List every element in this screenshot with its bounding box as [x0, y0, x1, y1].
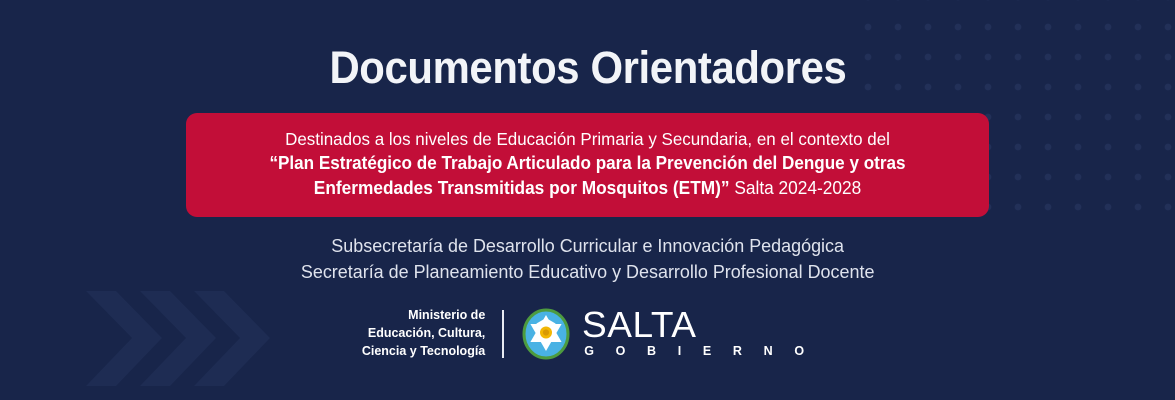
highlight-banner-line-1: Destinados a los niveles de Educación Pr…	[219, 127, 955, 151]
ministry-name: Ministerio de Educación, Cultura, Cienci…	[362, 307, 502, 360]
ministry-name-line-3: Ciencia y Tecnología	[362, 343, 485, 361]
subtitle-block: Subsecretaría de Desarrollo Curricular e…	[292, 233, 883, 286]
subtitle-line-2: Secretaría de Planeamiento Educativo y D…	[301, 259, 875, 285]
ministry-name-line-1: Ministerio de	[362, 307, 485, 325]
salta-brand: SALTA G O B I E R N O	[582, 308, 813, 361]
highlight-banner: Destinados a los niveles de Educación Pr…	[186, 113, 989, 217]
highlight-banner-line-3-regular: Salta 2024-2028	[730, 178, 862, 198]
salta-provincial-emblem-icon	[522, 308, 570, 360]
salta-brand-name: SALTA	[582, 308, 820, 343]
page-title: Documentos Orientadores	[329, 45, 846, 90]
banner-root: Documentos Orientadores Destinados a los…	[0, 0, 1175, 400]
salta-brand-subtitle: G O B I E R N O	[582, 342, 813, 360]
logo-divider	[502, 310, 504, 358]
banner-content: Documentos Orientadores Destinados a los…	[0, 0, 1175, 400]
ministry-name-line-2: Educación, Cultura,	[362, 325, 485, 343]
subtitle-line-1: Subsecretaría de Desarrollo Curricular e…	[301, 233, 875, 259]
highlight-banner-line-2: “Plan Estratégico de Trabajo Articulado …	[227, 151, 948, 176]
highlight-banner-line-3: Enfermedades Transmitidas por Mosquitos …	[223, 176, 952, 201]
highlight-banner-line-3-bold: Enfermedades Transmitidas por Mosquitos …	[314, 178, 730, 198]
logo-lockup: Ministerio de Educación, Cultura, Cienci…	[362, 307, 813, 360]
